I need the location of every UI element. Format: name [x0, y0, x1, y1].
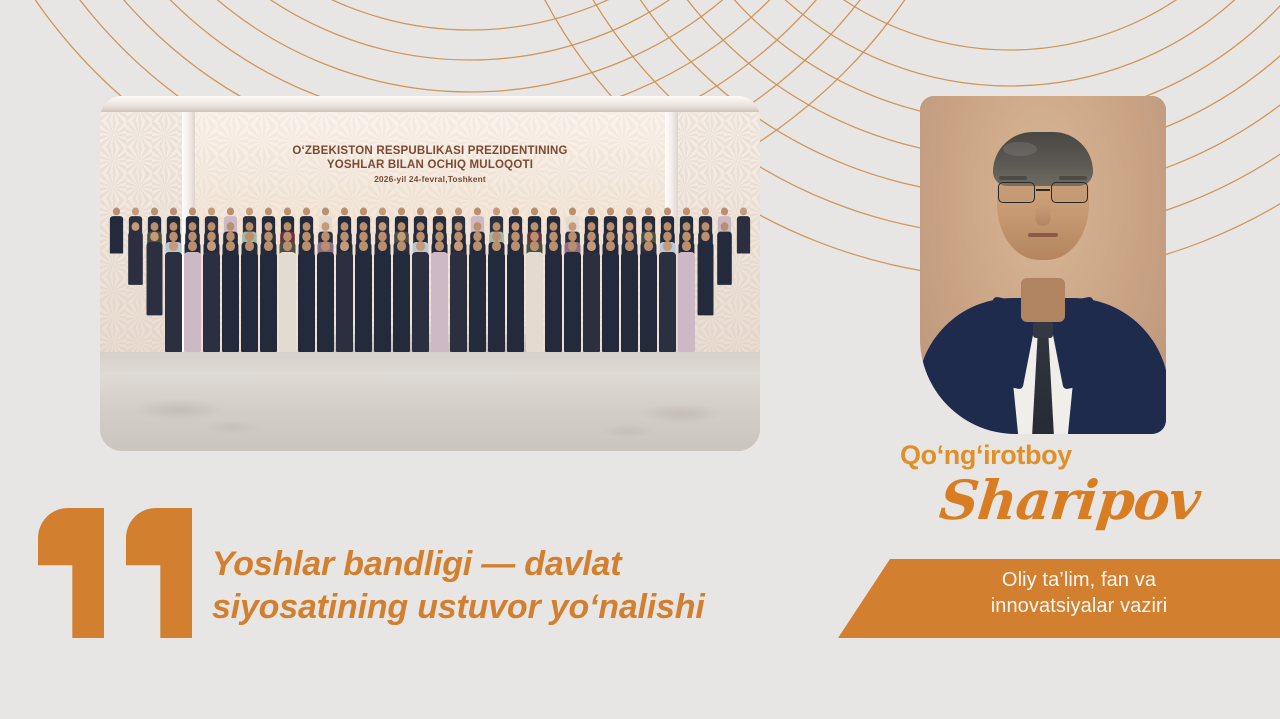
event-banner-text: O‘ZBEKISTON RESPUBLIKASI PREZIDENTINING …	[100, 144, 760, 184]
crowd-person-head	[265, 207, 272, 215]
crowd-person-head	[378, 231, 386, 240]
crowd-person-head	[150, 231, 158, 240]
crowd-person	[279, 241, 296, 352]
crowd-person-head	[587, 231, 595, 240]
crowd-person-head	[207, 241, 216, 251]
crowd-person-head	[246, 207, 253, 215]
crowd-person-head	[454, 241, 463, 251]
crowd-person	[222, 241, 239, 352]
crowd-person-body	[678, 252, 695, 352]
crowd-person-head	[531, 207, 538, 215]
crowd-person-body	[203, 252, 220, 352]
crowd-person	[488, 241, 505, 352]
crowd-person	[336, 241, 353, 352]
crowd-person	[526, 241, 543, 352]
portrait-card	[920, 96, 1166, 434]
crowd-person-head	[359, 241, 368, 251]
crowd-person-head	[549, 231, 557, 240]
event-banner-line2: YOSHLAR BILAN OCHIQ MULOQOTI	[100, 158, 760, 172]
crowd-person-head	[721, 207, 728, 215]
crowd-person-head	[360, 207, 367, 215]
crowd-person-head	[549, 241, 558, 251]
crowd-person-head	[626, 207, 633, 215]
crowd-person	[165, 241, 182, 352]
crowd-person-head	[245, 241, 254, 251]
crowd-person-head	[645, 207, 652, 215]
crowd-person-head	[113, 207, 120, 215]
crowd-person-head	[378, 241, 387, 251]
crowd-person-head	[625, 241, 634, 251]
crowd-person-head	[169, 231, 177, 240]
crowd-person-body	[621, 252, 638, 352]
crowd-person-head	[397, 241, 406, 251]
eyebrow-left	[999, 176, 1027, 180]
crowd-person-body	[412, 252, 429, 352]
crowd-person-head	[474, 207, 481, 215]
crowd-person-head	[625, 231, 633, 240]
quote-text: Yoshlar bandligi — davlat siyosatining u…	[212, 543, 842, 629]
crowd-person	[355, 241, 372, 352]
crowd-person-body	[355, 252, 372, 352]
crowd-person-body	[317, 252, 334, 352]
crowd-person-head	[341, 207, 348, 215]
event-banner-line3: 2026-yil 24-fevral,Toshkent	[100, 174, 760, 184]
crowd-person	[564, 241, 581, 352]
crowd-person	[621, 241, 638, 352]
crowd-person-head	[511, 241, 520, 251]
crowd-person-body	[450, 252, 467, 352]
crowd-person-head	[340, 241, 349, 251]
crowd-person	[260, 241, 277, 352]
crowd-person-body	[165, 252, 182, 352]
crowd-person	[469, 241, 486, 352]
crowd-person-head	[663, 231, 671, 240]
crowd-person-head	[151, 207, 158, 215]
role-line1: Oliy ta’lim, fan va	[878, 567, 1280, 593]
crowd-person-head	[701, 231, 709, 240]
crowd-person-body	[526, 252, 543, 352]
crowd-person-head	[302, 231, 310, 240]
crowd-person-head	[397, 231, 405, 240]
crowd-person-body	[260, 252, 277, 352]
crowd-person-body	[222, 252, 239, 352]
crowd-person-head	[740, 207, 747, 215]
neck	[1021, 278, 1065, 322]
crowd-person-head	[208, 207, 215, 215]
role-line2: innovatsiyalar vaziri	[878, 593, 1280, 619]
glasses-bridge	[1036, 189, 1050, 191]
crowd-person-head	[227, 207, 234, 215]
poster-canvas: O‘ZBEKISTON RESPUBLIKASI PREZIDENTINING …	[0, 0, 1280, 719]
crowd-person-head	[663, 241, 672, 251]
crowd-person	[583, 241, 600, 352]
crowd-person-body	[488, 252, 505, 352]
crowd-person	[659, 241, 676, 352]
ceiling-cornice	[100, 96, 760, 112]
crowd-person-head	[321, 241, 330, 251]
crowd-person	[602, 241, 619, 352]
crowd-person-head	[264, 241, 273, 251]
crowd-person-head	[226, 241, 235, 251]
crowd-person-body	[469, 252, 486, 352]
crowd-person-body	[545, 252, 562, 352]
crowd-person-head	[530, 231, 538, 240]
crowd-person-body	[659, 252, 676, 352]
crowd-person-head	[436, 207, 443, 215]
crowd-person-head	[283, 241, 292, 251]
crowd-person-head	[416, 241, 425, 251]
crowd-person	[431, 241, 448, 352]
portrait-photo	[920, 96, 1166, 434]
crowd-person-head	[245, 231, 253, 240]
crowd-person-head	[170, 207, 177, 215]
crowd-person-head	[398, 207, 405, 215]
person-last-name: Sharipov	[937, 468, 1203, 532]
marble-floor	[100, 352, 760, 451]
crowd-person-head	[682, 231, 690, 240]
crowd-person-head	[189, 207, 196, 215]
crowd-person-head	[417, 207, 424, 215]
necktie-knot	[1033, 321, 1053, 338]
crowd-person-head	[607, 207, 614, 215]
crowd-person-head	[359, 231, 367, 240]
crowd-person-head	[512, 207, 519, 215]
crowd-person-body	[583, 252, 600, 352]
crowd-person-body	[184, 252, 201, 352]
quote-glyph-right	[126, 508, 192, 638]
crowd-person-head	[454, 231, 462, 240]
crowd-person-head	[283, 231, 291, 240]
crowd-person	[184, 241, 201, 352]
person-first-name: Qo‘ng‘irotboy	[900, 440, 1072, 471]
crowd-person-head	[169, 241, 178, 251]
crowd-person-head	[511, 231, 519, 240]
quote-line2: siyosatining ustuvor yo‘nalishi	[212, 586, 842, 629]
crowd-person	[374, 241, 391, 352]
crowd-person-head	[644, 241, 653, 251]
crowd-person	[507, 241, 524, 352]
crowd-person-head	[568, 231, 576, 240]
crowd-person-head	[264, 231, 272, 240]
lens-right	[1051, 182, 1088, 203]
crowd-group	[112, 157, 748, 352]
mouth	[1028, 233, 1058, 237]
crowd-person	[317, 241, 334, 352]
crowd-person-body	[564, 252, 581, 352]
eyeglasses-icon	[995, 182, 1091, 204]
crowd-person-body	[336, 252, 353, 352]
crowd-person-body	[640, 252, 657, 352]
crowd-person-head	[435, 231, 443, 240]
crowd-person-head	[188, 241, 197, 251]
crowd-person-head	[588, 207, 595, 215]
crowd-person-body	[279, 252, 296, 352]
crowd-person	[298, 241, 315, 352]
crowd-person-head	[606, 241, 615, 251]
crowd-person-head	[435, 241, 444, 251]
crowd-person-head	[132, 207, 139, 215]
crowd-person-body	[298, 252, 315, 352]
crowd-person-head	[606, 231, 614, 240]
crowd-person	[640, 241, 657, 352]
crowd-person-body	[374, 252, 391, 352]
crowd-person-head	[303, 207, 310, 215]
role-text: Oliy ta’lim, fan va innovatsiyalar vazir…	[834, 567, 1280, 619]
crowd-person-head	[321, 231, 329, 240]
crowd-person	[678, 241, 695, 352]
eyebrow-right	[1059, 176, 1087, 180]
crowd-person-head	[493, 207, 500, 215]
crowd-person-head	[530, 241, 539, 251]
crowd-person-head	[226, 231, 234, 240]
crowd-person-head	[188, 231, 196, 240]
crowd-person-head	[473, 231, 481, 240]
crowd-person-head	[340, 231, 348, 240]
quote-line1: Yoshlar bandligi — davlat	[212, 543, 842, 586]
crowd-person-body	[431, 252, 448, 352]
crowd-person-head	[492, 231, 500, 240]
nose	[1036, 204, 1051, 226]
group-photo-card: O‘ZBEKISTON RESPUBLIKASI PREZIDENTINING …	[100, 96, 760, 451]
crowd-person	[203, 241, 220, 352]
crowd-person-head	[702, 207, 709, 215]
crowd-person-head	[379, 207, 386, 215]
crowd-person-head	[682, 241, 691, 251]
crowd-person-head	[416, 231, 424, 240]
crowd-person	[412, 241, 429, 352]
crowd-person-head	[473, 241, 482, 251]
crowd-person-body	[241, 252, 258, 352]
crowd-person-head	[683, 207, 690, 215]
crowd-person-head	[568, 241, 577, 251]
crowd-person-head	[322, 207, 329, 215]
crowd-person-head	[664, 207, 671, 215]
event-banner-line1: O‘ZBEKISTON RESPUBLIKASI PREZIDENTINING	[100, 144, 760, 158]
crowd-person-body	[393, 252, 410, 352]
crowd-person-head	[455, 207, 462, 215]
crowd-person-head	[644, 231, 652, 240]
crowd-person-body	[602, 252, 619, 352]
crowd-person	[450, 241, 467, 352]
group-photo-image: O‘ZBEKISTON RESPUBLIKASI PREZIDENTINING …	[100, 96, 760, 451]
crowd-person-body	[507, 252, 524, 352]
crowd-person-head	[207, 231, 215, 240]
crowd-person	[241, 241, 258, 352]
crowd-person-head	[302, 241, 311, 251]
quote-mark-icon	[38, 508, 192, 638]
crowd-person-head	[587, 241, 596, 251]
crowd-person-head	[284, 207, 291, 215]
lens-left	[998, 182, 1035, 203]
crowd-person-head	[550, 207, 557, 215]
crowd-person	[393, 241, 410, 352]
crowd-person-head	[569, 207, 576, 215]
crowd-person-head	[492, 241, 501, 251]
crowd-person	[545, 241, 562, 352]
quote-glyph-left	[38, 508, 104, 638]
